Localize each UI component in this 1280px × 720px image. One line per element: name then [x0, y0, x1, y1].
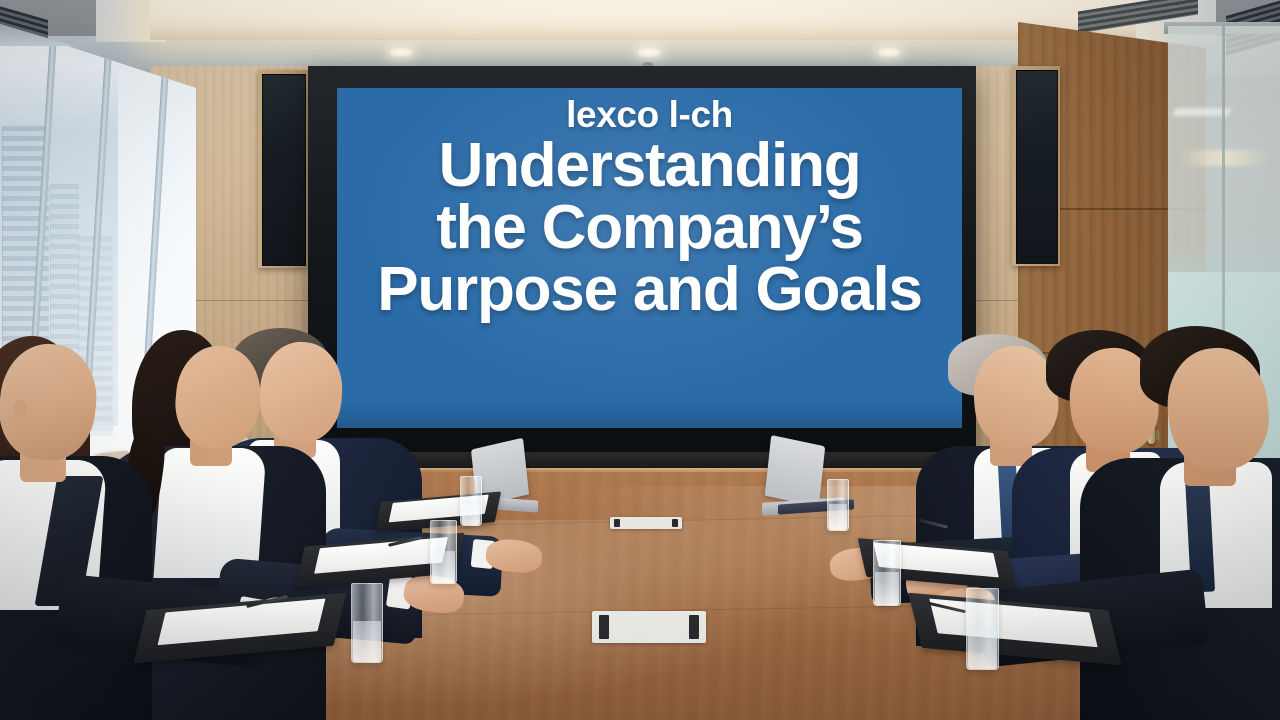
boardroom-scene: lexco l-ch Understanding the Company’s P…	[0, 0, 1280, 720]
table-cable-port[interactable]	[592, 611, 706, 643]
downlight-icon	[390, 48, 412, 57]
laptop-screen	[765, 435, 826, 507]
slide-kicker: lexco l-ch	[566, 96, 733, 133]
table-cable-port[interactable]	[610, 517, 682, 529]
cable-slot-icon	[689, 615, 699, 638]
slide-title-line-2: the Company’s	[436, 197, 863, 259]
wall-speaker-right	[1012, 66, 1060, 266]
water-glass	[460, 476, 482, 526]
water-glass	[873, 540, 901, 606]
attendee-left-front	[0, 336, 262, 720]
speaker-grille-icon	[262, 74, 306, 266]
water-glass	[966, 588, 999, 670]
downlight-icon	[878, 48, 900, 57]
water-glass	[827, 479, 849, 531]
water-glass	[351, 583, 383, 663]
water-glass	[430, 520, 457, 584]
wall-speaker-left	[258, 70, 308, 268]
cable-slot-icon	[614, 519, 620, 528]
paper-sheet	[929, 599, 1097, 647]
attendee-right-front	[1140, 326, 1280, 720]
ear	[14, 400, 27, 418]
ceiling-cove-light	[150, 0, 1150, 40]
downlight-icon	[638, 48, 660, 57]
slide-title-line-1: Understanding	[439, 135, 861, 197]
slide-title-line-3: Purpose and Goals	[377, 259, 922, 321]
cable-slot-icon	[599, 615, 609, 638]
cable-slot-icon	[672, 519, 678, 528]
speaker-grille-icon	[1016, 70, 1058, 264]
